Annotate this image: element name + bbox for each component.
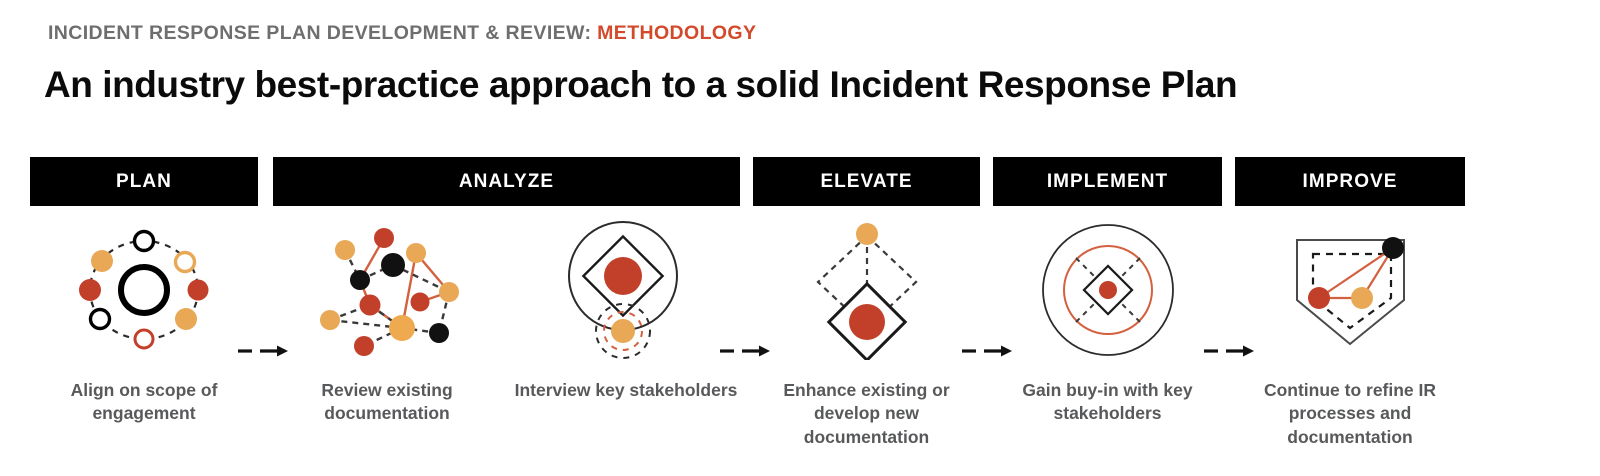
step-icon-wrap — [30, 215, 258, 365]
step-caption: Review existing documentation — [273, 379, 501, 426]
phase-bar-elevate[interactable]: ELEVATE — [753, 157, 980, 206]
phase-bar-label: ELEVATE — [820, 171, 912, 193]
arrow-elevate-to-implement — [960, 344, 1014, 358]
step-icon-wrap — [273, 215, 501, 365]
phase-bar-improve[interactable]: IMPROVE — [1235, 157, 1465, 206]
phase-bar-implement[interactable]: IMPLEMENT — [993, 157, 1222, 206]
step-icon-wrap — [512, 215, 740, 365]
step-caption: Gain buy-in with key stakeholders — [993, 379, 1222, 426]
arrow-implement-to-improve — [1202, 344, 1256, 358]
eyebrow-label: INCIDENT RESPONSE PLAN DEVELOPMENT & REV… — [48, 22, 756, 45]
step-review-documentation: Review existing documentation — [273, 215, 501, 426]
methodology-infographic: INCIDENT RESPONSE PLAN DEVELOPMENT & REV… — [0, 0, 1600, 476]
step-continue-refine: Continue to refine IR processes and docu… — [1235, 215, 1465, 449]
pentagon-nodes-icon — [1283, 228, 1418, 353]
step-caption: Continue to refine IR processes and docu… — [1235, 379, 1465, 449]
step-icon-wrap — [1235, 215, 1465, 365]
circle-diamond-icon — [561, 218, 691, 363]
step-caption: Interview key stakeholders — [512, 379, 740, 402]
step-align-on-scope: Align on scope of engagement — [30, 215, 258, 426]
network-graph-icon — [312, 220, 462, 360]
step-caption: Enhance existing or develop new document… — [753, 379, 980, 449]
phase-bar-plan[interactable]: PLAN — [30, 157, 258, 206]
eyebrow-prefix: INCIDENT RESPONSE PLAN DEVELOPMENT & REV… — [48, 22, 591, 44]
step-gain-buyin: Gain buy-in with key stakeholders — [993, 215, 1222, 426]
eyebrow-accent: METHODOLOGY — [597, 22, 756, 44]
arrow-plan-to-analyze — [236, 344, 290, 358]
phase-bar-analyze[interactable]: ANALYZE — [273, 157, 740, 206]
phase-bar-label: ANALYZE — [459, 171, 554, 193]
orbit-nodes-icon — [74, 220, 214, 360]
diamond-elevate-icon — [807, 220, 927, 360]
phase-bar-label: IMPLEMENT — [1047, 171, 1168, 193]
step-icon-wrap — [993, 215, 1222, 365]
step-caption: Align on scope of engagement — [30, 379, 258, 426]
page-title: An industry best-practice approach to a … — [44, 64, 1237, 106]
phase-bar-label: PLAN — [116, 171, 172, 193]
target-diamond-icon — [1038, 220, 1178, 360]
step-enhance-documentation: Enhance existing or develop new document… — [753, 215, 980, 449]
phase-bar-label: IMPROVE — [1303, 171, 1398, 193]
step-interview-stakeholders: Interview key stakeholders — [512, 215, 740, 402]
step-icon-wrap — [753, 215, 980, 365]
arrow-analyze-to-elevate — [718, 344, 772, 358]
